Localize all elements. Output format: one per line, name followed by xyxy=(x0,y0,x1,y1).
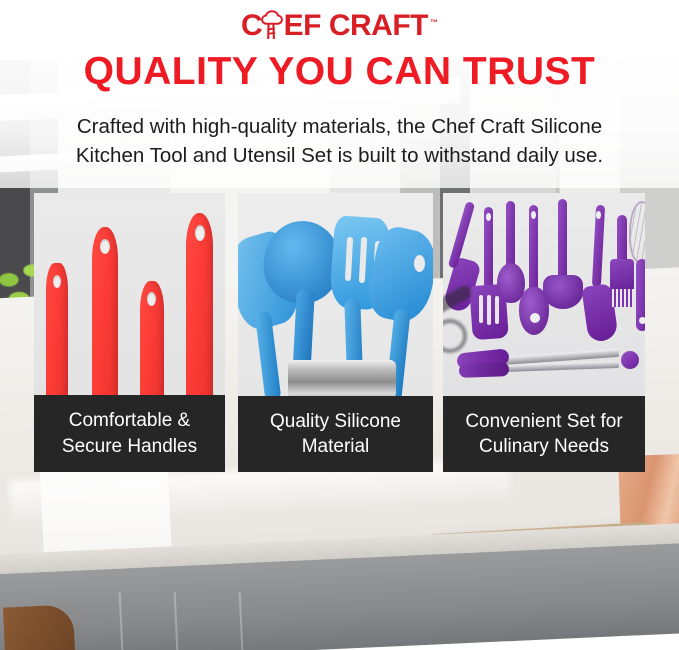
panel-caption-line-1: Quality Silicone xyxy=(270,409,401,434)
feature-panel-comfortable-secure-handles[interactable]: Comfortable & Secure Handles xyxy=(34,193,225,472)
purple-ladle-handle xyxy=(558,199,567,281)
feature-panel-convenient-set-for-culinary-needs[interactable]: Convenient Set for Culinary Needs xyxy=(443,193,645,472)
panel-caption-line-2: Material xyxy=(302,434,370,459)
purple-utensil-set-image xyxy=(443,193,645,396)
red-utensil-handles-image xyxy=(34,193,225,396)
turner-slot xyxy=(479,295,483,323)
subtitle-line-2: Kitchen Tool and Utensil Set is built to… xyxy=(0,141,679,170)
subtitle-line-1: Crafted with high-quality materials, the… xyxy=(0,112,679,141)
hanging-hole xyxy=(53,275,61,288)
feature-panel-quality-silicone-material[interactable]: Quality Silicone Material xyxy=(238,193,433,472)
logo-wordmark: EF CRAFT xyxy=(284,11,428,41)
trademark-symbol: ™ xyxy=(430,18,438,27)
hanging-hole xyxy=(147,292,156,306)
blue-utensils-image xyxy=(238,193,433,396)
panel-caption-line-2: Secure Handles xyxy=(62,434,197,459)
panel-caption-line-2: Culinary Needs xyxy=(479,434,609,459)
steel-utensil-holder xyxy=(288,360,396,396)
whisk-wires xyxy=(629,201,645,263)
hanging-hole xyxy=(414,255,425,272)
purple-tongs-lock xyxy=(621,351,639,369)
hanging-hole xyxy=(486,213,491,221)
panel-caption: Quality Silicone Material xyxy=(238,396,433,472)
hanging-hole xyxy=(596,211,601,219)
purple-spoon-handle xyxy=(506,201,515,269)
hanging-hole xyxy=(100,239,110,254)
hanging-hole xyxy=(531,211,536,219)
scissors-blur xyxy=(443,319,467,353)
brush-bristles xyxy=(610,289,634,307)
promo-banner: C EF CRAFT ™ QUALITY YOU CAN TRUST Craft… xyxy=(0,0,679,650)
panel-caption-line-1: Convenient Set for xyxy=(465,409,622,434)
page-title: QUALITY YOU CAN TRUST xyxy=(0,52,679,93)
chef-craft-logo: C EF CRAFT ™ xyxy=(0,8,679,42)
hanging-hole xyxy=(195,225,205,241)
panel-caption: Convenient Set for Culinary Needs xyxy=(443,396,645,472)
subtitle: Crafted with high-quality materials, the… xyxy=(0,112,679,170)
chef-hat-icon xyxy=(259,9,285,41)
panel-caption: Comfortable & Secure Handles xyxy=(34,395,225,472)
purple-ladle-bowl xyxy=(543,275,583,309)
panel-caption-line-1: Comfortable & xyxy=(69,408,190,433)
purple-tongs-grip xyxy=(459,362,509,378)
feature-panel-group: Comfortable & Secure Handles xyxy=(0,0,679,650)
hanging-hole xyxy=(639,317,645,324)
turner-slot xyxy=(495,296,499,324)
turner-slot xyxy=(487,295,491,325)
hanging-hole xyxy=(530,313,540,323)
